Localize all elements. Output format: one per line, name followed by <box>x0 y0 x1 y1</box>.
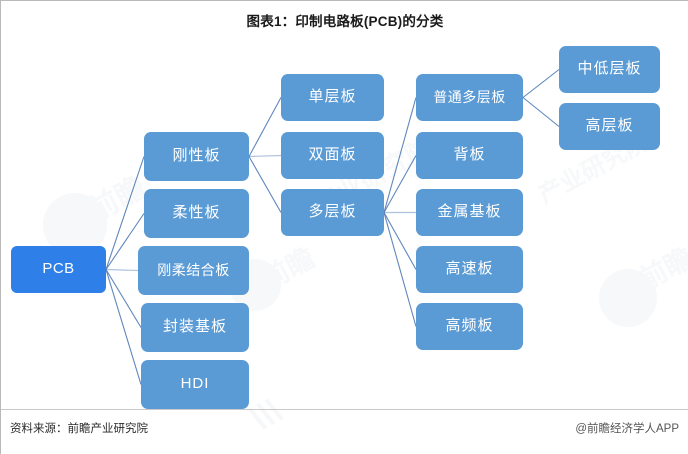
tree-diagram: PCB刚性板柔性板刚柔结合板封装基板HDI单层板双面板多层板普通多层板背板金属基… <box>1 1 688 454</box>
tree-node-label: 刚性板 <box>172 148 220 165</box>
connector-multi-to-highfrq <box>384 213 416 327</box>
tree-node-lowmid[interactable]: 中低层板 <box>559 46 660 93</box>
tree-node-flex[interactable]: 柔性板 <box>144 189 249 238</box>
tree-node-label: 柔性板 <box>172 205 220 222</box>
tree-node-rigid[interactable]: 刚性板 <box>144 132 249 181</box>
tree-node-label: 双面板 <box>308 147 356 164</box>
tree-node-hdi[interactable]: HDI <box>141 360 249 409</box>
connector-multi-to-backpl <box>384 156 416 213</box>
tree-node-rigflex[interactable]: 刚柔结合板 <box>138 246 249 295</box>
connector-rigid-to-double <box>249 156 281 157</box>
tree-node-label: 高层板 <box>585 118 633 135</box>
connector-pcb-to-hdi <box>106 270 141 385</box>
tree-node-label: 封装基板 <box>163 319 227 336</box>
tree-node-label: PCB <box>42 261 74 278</box>
tree-node-label: HDI <box>181 376 210 393</box>
tree-node-single[interactable]: 单层板 <box>281 74 384 121</box>
footer-divider <box>1 409 688 410</box>
tree-node-pcb[interactable]: PCB <box>11 246 106 293</box>
tree-node-label: 高速板 <box>445 261 493 278</box>
tree-node-highlay[interactable]: 高层板 <box>559 103 660 150</box>
tree-node-highspd[interactable]: 高速板 <box>416 246 523 293</box>
tree-node-label: 普通多层板 <box>433 90 506 105</box>
connector-multi-to-highspd <box>384 213 416 270</box>
tree-node-label: 单层板 <box>308 89 356 106</box>
tree-node-label: 背板 <box>453 147 485 164</box>
connector-ordmult-to-lowmid <box>523 70 559 98</box>
chart-figure: 前瞻 前瞻 前瞻 产业研究院 产业研究院 \\\ \\\ 图表1：印制电路板(P… <box>0 0 688 454</box>
tree-node-metal[interactable]: 金属基板 <box>416 189 523 236</box>
tree-node-label: 多层板 <box>308 204 356 221</box>
tree-node-label: 金属基板 <box>437 204 501 221</box>
tree-node-label: 刚柔结合板 <box>157 263 230 278</box>
tree-node-ordmult[interactable]: 普通多层板 <box>416 74 523 121</box>
connector-ordmult-to-highlay <box>523 98 559 127</box>
tree-node-highfrq[interactable]: 高频板 <box>416 303 523 350</box>
connector-rigid-to-single <box>249 98 281 157</box>
app-credit: @前瞻经济学人APP <box>575 420 679 436</box>
connector-rigid-to-multi <box>249 157 281 213</box>
tree-node-multi[interactable]: 多层板 <box>281 189 384 236</box>
tree-node-label: 高频板 <box>445 318 493 335</box>
tree-node-double[interactable]: 双面板 <box>281 132 384 179</box>
source-note: 资料来源：前瞻产业研究院 <box>10 420 148 436</box>
tree-node-pkgsub[interactable]: 封装基板 <box>141 303 249 352</box>
connector-pcb-to-rigflex <box>106 270 138 271</box>
connector-pcb-to-pkgsub <box>106 270 141 328</box>
connector-multi-to-ordmult <box>384 98 416 213</box>
tree-node-label: 中低层板 <box>577 61 641 78</box>
tree-node-backpl[interactable]: 背板 <box>416 132 523 179</box>
